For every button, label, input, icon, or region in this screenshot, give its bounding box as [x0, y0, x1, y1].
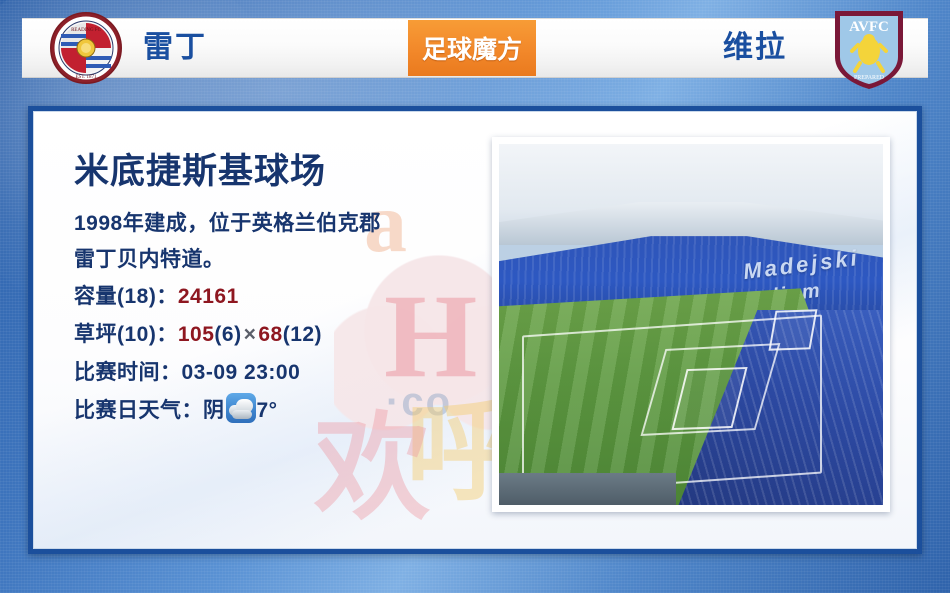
site-logo[interactable]: 足球魔方	[408, 20, 536, 76]
pitch-size-separator: ×	[242, 323, 259, 346]
svg-text:EST. 1871: EST. 1871	[75, 75, 97, 80]
madejski-stadium-photo[interactable]: Madejski Stadium	[492, 137, 890, 512]
match-temperature: 7°	[257, 399, 278, 422]
match-weather-label: 比赛日天气：	[74, 399, 203, 422]
stadium-description-line-1: 1998年建成，位于英格兰伯克郡	[74, 206, 381, 242]
match-time-label: 比赛时间：	[74, 361, 182, 384]
match-header: READING FC EST. 1871 雷丁 足球魔方 维拉 AVFC PRE…	[0, 0, 950, 96]
stadium-description-line-2: 雷丁贝内特道。	[74, 242, 381, 278]
pitch-size-label: 草坪(10)：	[74, 323, 178, 346]
site-logo-text: 足球魔方	[422, 30, 522, 66]
watermark-letter-h: H	[384, 267, 477, 405]
stadium-info-card-inner: a H ·co 呼 欢 米底捷斯基球场 1998年建成，位于英格兰伯克郡 雷丁贝…	[33, 111, 917, 549]
stadium-title: 米底捷斯基球场	[74, 150, 381, 194]
capacity-row: 容量(18)：24161	[74, 278, 381, 316]
photo-foreground-track	[499, 473, 676, 505]
match-time-value: 03-09 23:00	[182, 361, 301, 384]
aston-villa-crest: AVFC PREPARED	[830, 7, 908, 91]
stadium-info-card: a H ·co 呼 欢 米底捷斯基球场 1998年建成，位于英格兰伯克郡 雷丁贝…	[28, 106, 922, 554]
photo-goal-far	[768, 309, 817, 350]
capacity-value: 24161	[178, 285, 239, 308]
capacity-label: 容量(18)：	[74, 285, 178, 308]
svg-text:AVFC: AVFC	[849, 19, 889, 35]
match-time-row: 比赛时间：03-09 23:00	[74, 354, 381, 392]
pitch-width-rank: (12)	[283, 323, 322, 346]
stadium-info-text: 米底捷斯基球场 1998年建成，位于英格兰伯克郡 雷丁贝内特道。 容量(18)：…	[74, 150, 381, 430]
reading-fc-crest: READING FC EST. 1871	[50, 12, 122, 84]
match-weather-condition: 阴	[203, 399, 225, 422]
stadium-photo-content: Madejski Stadium	[499, 144, 883, 505]
cloudy-weather-icon	[226, 393, 256, 423]
away-team-name: 维拉	[723, 30, 787, 66]
pitch-size-row: 草坪(10)：105(6)×68(12)	[74, 316, 381, 354]
home-team-name: 雷丁	[143, 30, 207, 66]
pitch-length-rank: (6)	[214, 323, 241, 346]
match-weather-row: 比赛日天气：阴7°	[74, 392, 381, 430]
pitch-width-value: 68	[258, 323, 282, 346]
app-root: READING FC EST. 1871 雷丁 足球魔方 维拉 AVFC PRE…	[0, 0, 950, 593]
watermark-domain: ·co	[386, 380, 452, 425]
svg-text:PREPARED: PREPARED	[854, 75, 885, 81]
pitch-length-value: 105	[178, 323, 215, 346]
svg-text:READING FC: READING FC	[71, 28, 102, 33]
